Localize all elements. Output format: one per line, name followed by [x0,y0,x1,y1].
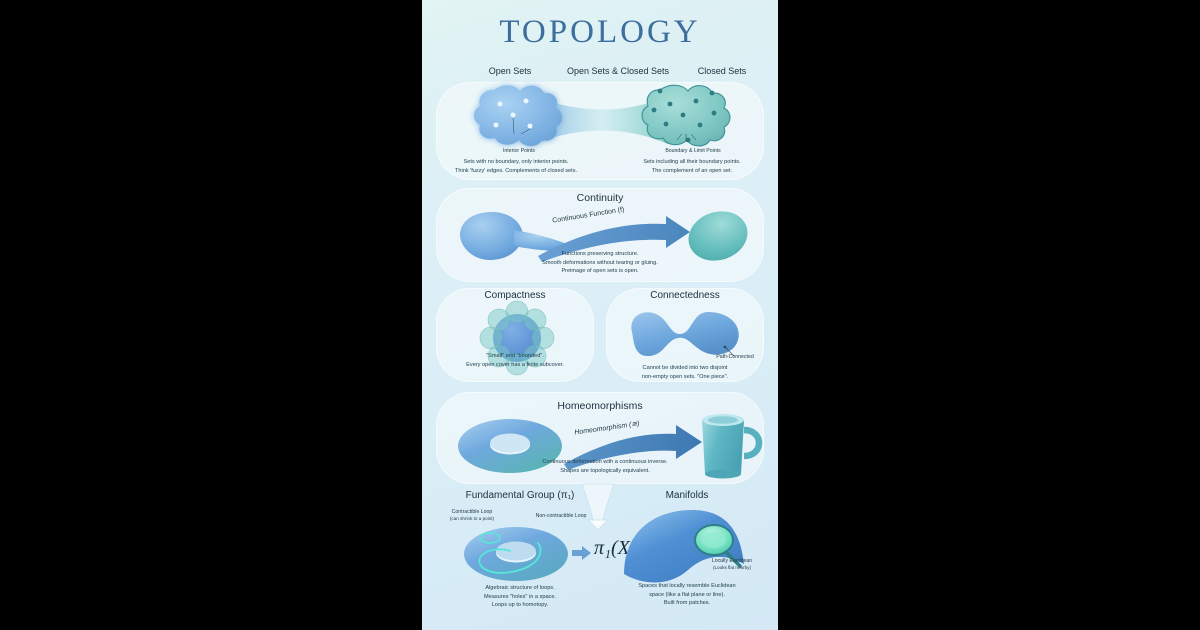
continuity-desc-line2: Smooth deformations without tearing or g… [510,259,690,268]
connectedness-desc-line1: Cannot be divided into two disjoint [606,364,764,373]
connectedness-callout-label: Path-Connected [700,354,770,361]
section-header-compactness: Compactness [436,290,594,301]
fundamental-group-arrow [572,546,592,560]
open-set-description: Sets with no boundary, only interior poi… [436,158,596,175]
compactness-desc-line1: "Small" and "bounded". [436,352,594,361]
locally-euclidean-line2: (Looks flat nearby) [713,565,751,570]
closed-set-desc-line1: Sets including all their boundary points… [612,158,772,167]
connectedness-description: Cannot be divided into two disjoint non-… [606,364,764,381]
screenshot-canvas: TOPOLOGY Open Sets Open Sets & Closed Se… [0,0,1200,630]
section-header-manifolds: Manifolds [610,490,764,501]
fg-desc-line3: Loops up to homotopy. [436,601,604,610]
open-set-callout-label: Interior Points [474,148,564,155]
manifold-surface [618,508,764,588]
homeomorphisms-desc-line2: Shapes are topologically equivalent. [514,467,696,476]
closed-set-callout-label: Boundary & Limit Points [637,148,749,155]
homeomorphisms-desc-line1: Continuous deformation with a continuous… [514,458,696,467]
open-set-desc-line2: Think 'fuzzy' edges. Complements of clos… [436,167,596,176]
continuity-description: Functions preserving structure. Smooth d… [510,250,690,276]
compactness-description: "Small" and "bounded". Every open cover … [436,352,594,369]
fundamental-group-description: Algebraic structure of loops. Measures "… [436,584,604,610]
manifolds-desc-line1: Spaces that locally resemble Euclidean [606,582,768,591]
compactness-desc-line2: Every open cover has a finite subcover. [436,361,594,370]
section-header-fundamental-group: Fundamental Group (π₁) [436,490,604,501]
contractible-loop-callout: Contractible Loop (can shrink to a point… [436,509,508,523]
closed-set-description: Sets including all their boundary points… [612,158,772,175]
closed-set-blob [630,82,742,148]
contractible-loop-line2: (can shrink to a point) [450,516,494,521]
closed-set-desc-line2: The complement of an open set. [612,167,772,176]
open-set-blob [464,82,574,148]
section-header-closed-sets: Closed Sets [667,66,777,76]
continuity-desc-line3: Preimage of open sets is open. [510,267,690,276]
page-title: TOPOLOGY [422,14,778,51]
manifolds-desc-line2: space (like a flat plane or line). [606,591,768,600]
fg-desc-line2: Measures "holes" in a space. [436,593,604,602]
connectedness-desc-line2: non-empty open sets. "One piece". [606,373,764,382]
fg-desc-line1: Algebraic structure of loops. [436,584,604,593]
homeomorphisms-description: Continuous deformation with a continuous… [514,458,696,475]
continuity-desc-line1: Functions preserving structure. [510,250,690,259]
open-set-desc-line1: Sets with no boundary, only interior poi… [436,158,596,167]
section-header-homeomorphisms: Homeomorphisms [422,400,778,412]
fundamental-group-torus [460,525,580,583]
topology-infographic-poster: TOPOLOGY Open Sets Open Sets & Closed Se… [422,0,778,630]
noncontractible-loop-callout: Non-contractible Loop [518,513,604,520]
manifolds-desc-line3: Built from patches. [606,599,768,608]
locally-euclidean-line1: Locally Euclidean [712,558,752,564]
contractible-loop-line1: Contractible Loop [452,509,493,515]
section-header-connectedness: Connectedness [606,290,764,301]
manifolds-description: Spaces that locally resemble Euclidean s… [606,582,768,608]
locally-euclidean-callout: Locally Euclidean (Looks flat nearby) [694,558,770,572]
